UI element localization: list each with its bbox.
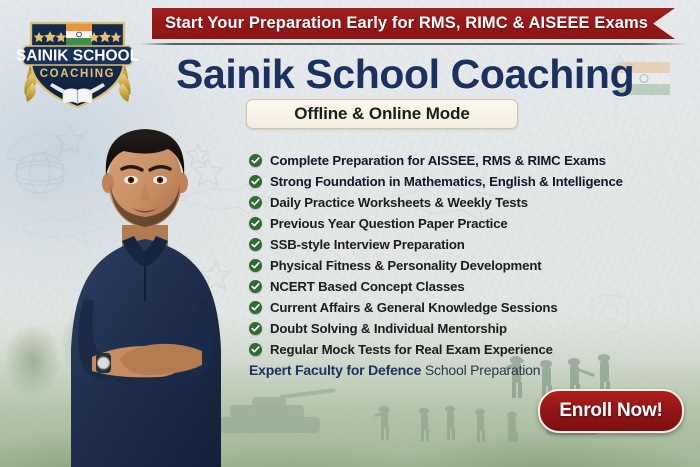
list-item: Daily Practice Worksheets & Weekly Tests bbox=[249, 192, 649, 213]
check-circle-icon bbox=[249, 175, 262, 188]
list-item: SSB-style Interview Preparation bbox=[249, 234, 649, 255]
feature-list: Complete Preparation for AISSEE, RMS & R… bbox=[249, 150, 649, 360]
tagline-light: School Preparation bbox=[421, 362, 540, 378]
page-title: Sainik School Coaching bbox=[176, 54, 646, 95]
list-item: Regular Mock Tests for Real Exam Experie… bbox=[249, 339, 649, 360]
instructor-photo bbox=[52, 113, 242, 467]
ribbon-notch bbox=[653, 8, 675, 39]
enroll-now-button[interactable]: Enroll Now! bbox=[538, 389, 684, 433]
list-item-label: Doubt Solving & Individual Mentorship bbox=[270, 321, 507, 336]
list-item: Previous Year Question Paper Practice bbox=[249, 213, 649, 234]
list-item-label: Regular Mock Tests for Real Exam Experie… bbox=[270, 342, 553, 357]
logo-line2: COACHING bbox=[40, 68, 115, 80]
mode-badge: Offline & Online Mode bbox=[246, 99, 518, 129]
check-circle-icon bbox=[249, 280, 262, 293]
logo-badge: SAINIK SCHOOL COACHING bbox=[9, 9, 146, 113]
enroll-now-label: Enroll Now! bbox=[559, 400, 662, 422]
ribbon-underline bbox=[140, 43, 688, 45]
check-circle-icon bbox=[249, 322, 262, 335]
list-item: Complete Preparation for AISSEE, RMS & R… bbox=[249, 150, 649, 171]
wristwatch-icon bbox=[96, 353, 111, 373]
list-item-label: SSB-style Interview Preparation bbox=[270, 237, 465, 252]
list-item-label: Physical Fitness & Personality Developme… bbox=[270, 258, 541, 273]
logo-line1: SAINIK SCHOOL bbox=[16, 48, 139, 65]
list-item-label: Strong Foundation in Mathematics, Englis… bbox=[270, 174, 623, 189]
check-circle-icon bbox=[249, 259, 262, 272]
check-circle-icon bbox=[249, 196, 262, 209]
list-item: Strong Foundation in Mathematics, Englis… bbox=[249, 171, 649, 192]
promo-banner: SAINIK SCHOOL COACHING Start Your Prepar… bbox=[0, 0, 700, 467]
list-item: NCERT Based Concept Classes bbox=[249, 276, 649, 297]
list-item-label: NCERT Based Concept Classes bbox=[270, 279, 465, 294]
check-circle-icon bbox=[249, 217, 262, 230]
list-item: Doubt Solving & Individual Mentorship bbox=[249, 318, 649, 339]
list-item: Current Affairs & General Knowledge Sess… bbox=[249, 297, 649, 318]
tagline: Expert Faculty for Defence School Prepar… bbox=[249, 362, 540, 378]
open-book-icon bbox=[63, 89, 92, 104]
check-circle-icon bbox=[249, 301, 262, 314]
ribbon-text: Start Your Preparation Early for RMS, RI… bbox=[165, 14, 662, 33]
list-item-label: Current Affairs & General Knowledge Sess… bbox=[270, 300, 558, 315]
indian-flag-icon bbox=[66, 24, 92, 45]
tagline-strong: Expert Faculty for Defence bbox=[249, 362, 421, 378]
list-item: Physical Fitness & Personality Developme… bbox=[249, 255, 649, 276]
check-circle-icon bbox=[249, 154, 262, 167]
list-item-label: Daily Practice Worksheets & Weekly Tests bbox=[270, 195, 528, 210]
check-circle-icon bbox=[249, 238, 262, 251]
list-item-label: Previous Year Question Paper Practice bbox=[270, 216, 508, 231]
list-item-label: Complete Preparation for AISSEE, RMS & R… bbox=[270, 153, 606, 168]
check-circle-icon bbox=[249, 343, 262, 356]
mode-badge-label: Offline & Online Mode bbox=[294, 104, 469, 124]
promo-ribbon: Start Your Preparation Early for RMS, RI… bbox=[152, 8, 675, 39]
